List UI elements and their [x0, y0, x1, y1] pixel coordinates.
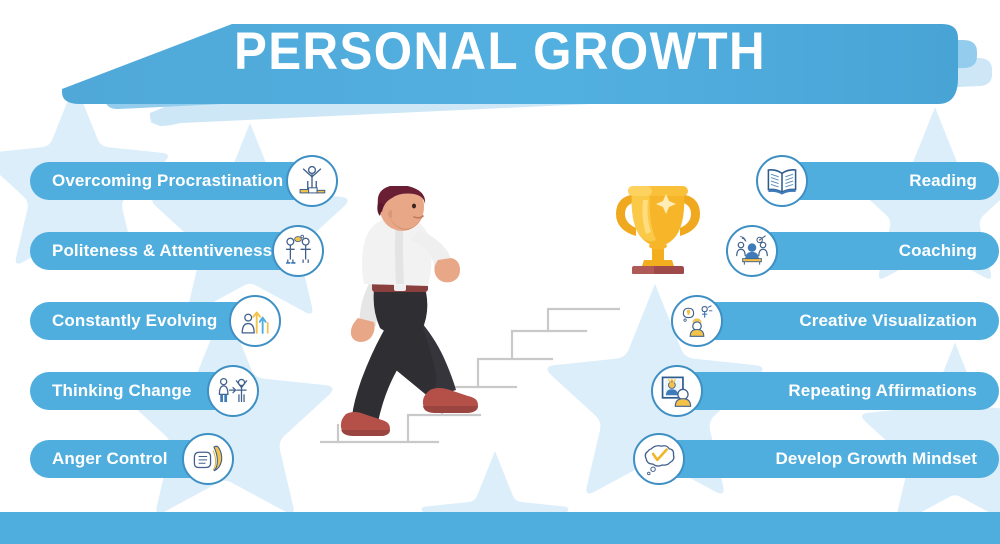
left-item-label: Anger Control	[52, 449, 168, 469]
header-banner: PERSONAL GROWTH	[0, 0, 1000, 132]
pill-develop-growth-mindset[interactable]: Develop Growth Mindset	[659, 440, 999, 478]
pill-overcoming-procrastination[interactable]: Overcoming Procrastination	[30, 162, 312, 200]
right-item-label: Reading	[909, 171, 977, 191]
pill-politeness-attentiveness[interactable]: Politeness & Attentiveness	[30, 232, 298, 270]
creative-idea-person-icon	[671, 295, 723, 347]
infographic-canvas: PERSONAL GROWTH	[0, 0, 1000, 544]
pill-reading[interactable]: Reading	[782, 162, 999, 200]
left-item-1[interactable]: Politeness & Attentiveness	[30, 232, 324, 270]
right-item-label: Develop Growth Mindset	[776, 449, 978, 469]
fist-calming-hand-icon	[182, 433, 234, 485]
left-item-label: Constantly Evolving	[52, 311, 217, 331]
right-item-label: Creative Visualization	[799, 311, 977, 331]
right-item-2[interactable]: Creative Visualization	[671, 302, 999, 340]
page-title: PERSONAL GROWTH	[35, 22, 965, 82]
pill-thinking-change[interactable]: Thinking Change	[30, 372, 233, 410]
person-arms-raised-podium-icon	[286, 155, 338, 207]
left-item-3[interactable]: Thinking Change	[30, 372, 259, 410]
pill-constantly-evolving[interactable]: Constantly Evolving	[30, 302, 255, 340]
left-item-label: Overcoming Procrastination	[52, 171, 283, 191]
left-item-2[interactable]: Constantly Evolving	[30, 302, 281, 340]
businessman-climbing-stairs	[338, 186, 498, 448]
footer-bar	[0, 512, 1000, 544]
left-item-4[interactable]: Anger Control	[30, 440, 234, 478]
two-people-talking-icon	[272, 225, 324, 277]
right-item-3[interactable]: Repeating Affirmations	[651, 372, 999, 410]
left-item-0[interactable]: Overcoming Procrastination	[30, 162, 338, 200]
open-book-icon	[756, 155, 808, 207]
right-item-label: Coaching	[899, 241, 977, 261]
star-decoration-icon	[860, 330, 1000, 530]
right-item-label: Repeating Affirmations	[788, 381, 977, 401]
coaching-presentation-icon	[726, 225, 778, 277]
left-item-label: Thinking Change	[52, 381, 191, 401]
right-item-0[interactable]: Reading	[756, 162, 999, 200]
thought-cloud-check-icon	[633, 433, 685, 485]
left-item-label: Politeness & Attentiveness	[52, 241, 272, 261]
right-item-4[interactable]: Develop Growth Mindset	[633, 440, 999, 478]
pill-creative-visualization[interactable]: Creative Visualization	[697, 302, 999, 340]
right-item-1[interactable]: Coaching	[726, 232, 999, 270]
person-transformation-icon	[207, 365, 259, 417]
pill-repeating-affirmations[interactable]: Repeating Affirmations	[677, 372, 999, 410]
person-growth-arrows-icon	[229, 295, 281, 347]
mirror-affirmation-icon	[651, 365, 703, 417]
pill-coaching[interactable]: Coaching	[752, 232, 999, 270]
gold-trophy	[610, 178, 706, 274]
